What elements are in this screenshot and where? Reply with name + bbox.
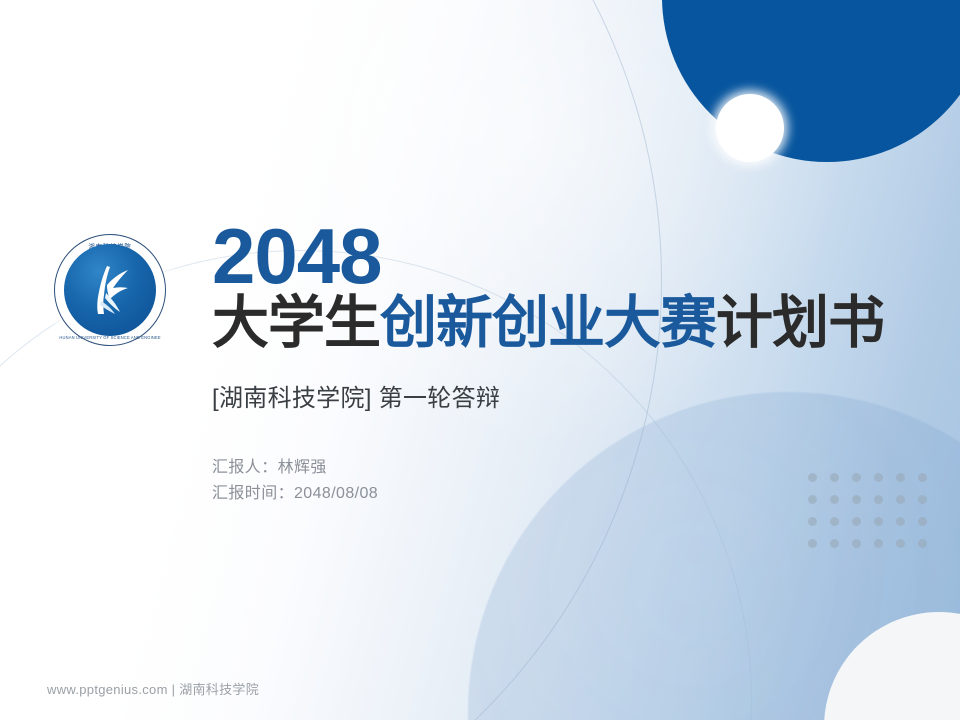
headline-part-1: 大学生 [212, 291, 380, 355]
grid-dot [874, 539, 883, 548]
grid-dot [808, 517, 817, 526]
grid-dot [918, 517, 927, 526]
grid-dot [896, 539, 905, 548]
subtitle: [湖南科技学院] 第一轮答辩 [212, 378, 912, 413]
footer-credit: www.pptgenius.com | 湖南科技学院 [47, 679, 259, 698]
meta-block: 汇报人：林辉强 汇报时间：2048/08/08 [212, 455, 912, 507]
presentation-slide: 湖南科技学院 HUNAN UNIVERSITY OF SCIENCE AND E… [0, 0, 960, 720]
white-circle-bottom-right [824, 612, 960, 720]
grid-dot [918, 539, 927, 548]
logo-bird-k-mark [77, 257, 143, 323]
date-line: 汇报时间：2048/08/08 [212, 481, 912, 507]
main-headline: 大学生创新创业大赛计划书 [212, 295, 912, 352]
grid-dot [852, 517, 861, 526]
grid-dot [918, 495, 927, 504]
year-heading: 2048 [212, 222, 912, 291]
grid-dot [830, 539, 839, 548]
presenter-line: 汇报人：林辉强 [212, 455, 912, 481]
brand-blue-circle-top-right [662, 0, 960, 162]
grid-dot [808, 539, 817, 548]
headline-part-2: 创新创业大赛 [380, 291, 716, 355]
grid-dot [874, 517, 883, 526]
university-logo: 湖南科技学院 HUNAN UNIVERSITY OF SCIENCE AND E… [50, 230, 170, 350]
headline-part-3: 计划书 [716, 291, 884, 355]
grid-dot [852, 539, 861, 548]
grid-dot [918, 473, 927, 482]
white-accent-dot [716, 94, 784, 162]
grid-dot [830, 517, 839, 526]
grid-dot [896, 517, 905, 526]
title-block: 2048 大学生创新创业大赛计划书 [湖南科技学院] 第一轮答辩 汇报人：林辉强… [212, 222, 912, 506]
